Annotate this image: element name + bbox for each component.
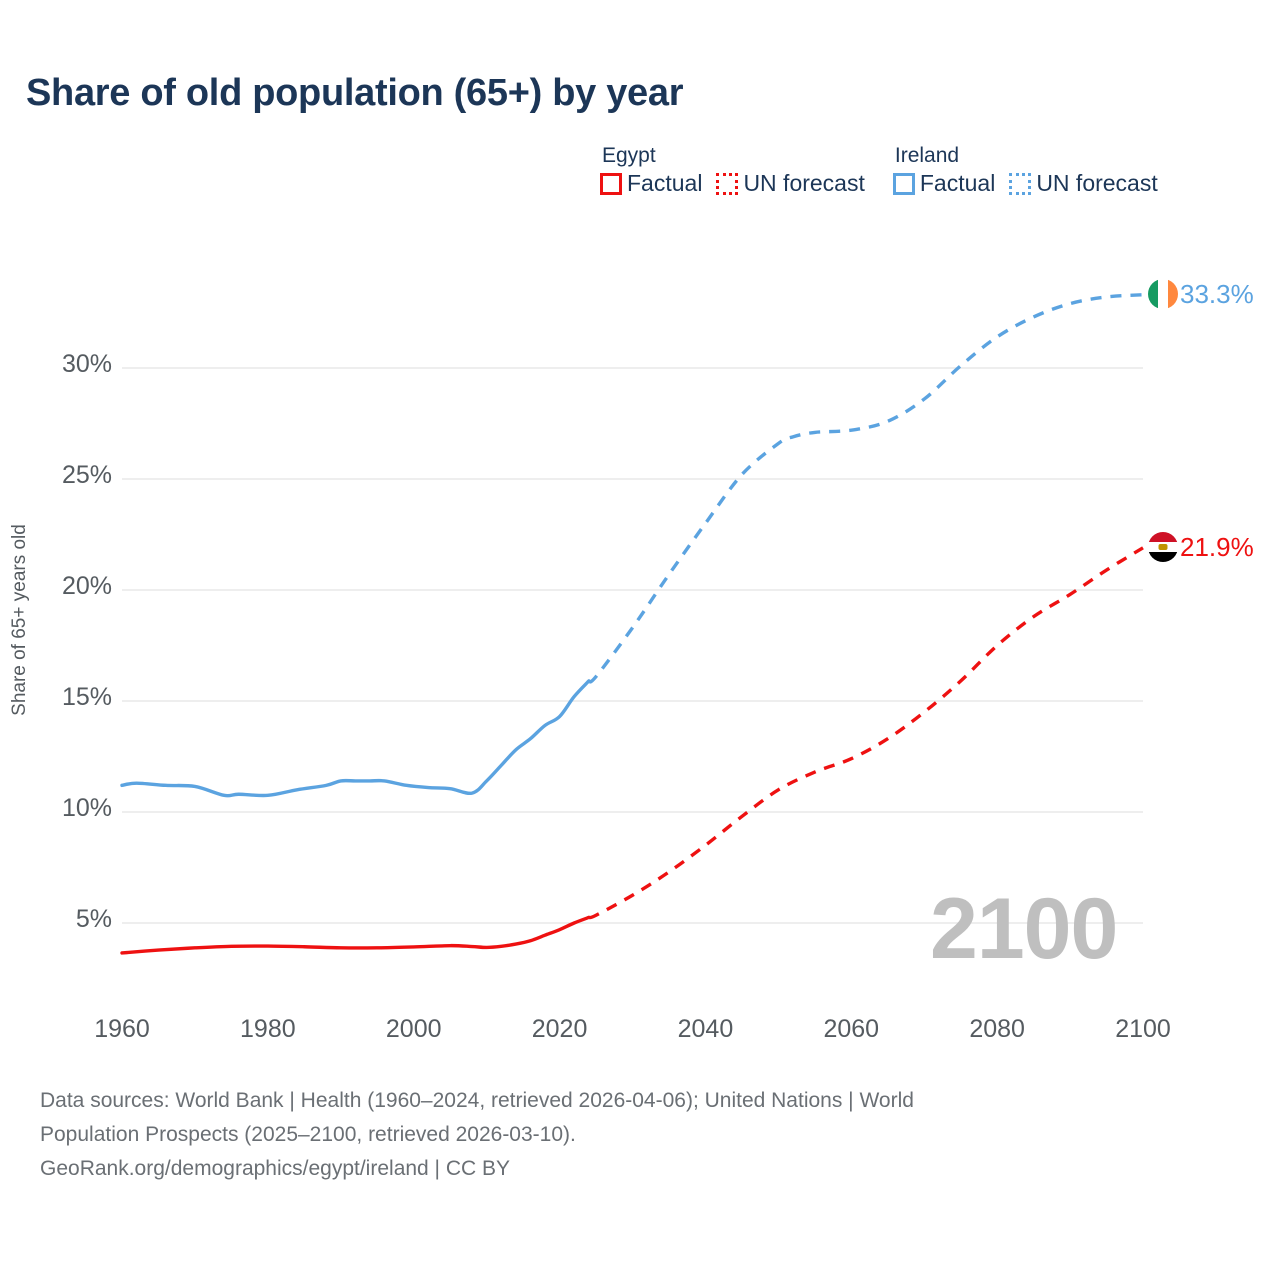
line-ireland-forecast: [589, 295, 1143, 682]
y-tick-label: 20%: [0, 572, 112, 601]
x-tick-label: 2080: [969, 1015, 1025, 1044]
ireland-flag-icon: [1148, 279, 1178, 309]
x-tick-label: 2100: [1115, 1015, 1171, 1044]
chart-plot-area: Share of 65+ years old 5%10%15%20%25%30%…: [0, 0, 1280, 1060]
footer-line-sources-1: Data sources: World Bank | Health (1960–…: [40, 1084, 1220, 1118]
x-tick-label: 1960: [94, 1015, 150, 1044]
y-tick-label: 25%: [0, 461, 112, 490]
endpoint-label-ireland: 33.3%: [1148, 279, 1254, 309]
x-tick-label: 1980: [240, 1015, 296, 1044]
x-tick-label: 2020: [532, 1015, 588, 1044]
x-tick-label: 2040: [678, 1015, 734, 1044]
y-tick-label: 30%: [0, 350, 112, 379]
line-egypt-forecast: [589, 548, 1143, 918]
endpoint-label-egypt: 21.9%: [1148, 532, 1254, 562]
chart-page: Share of old population (65+) by year Eg…: [0, 0, 1280, 1280]
y-tick-label: 10%: [0, 794, 112, 823]
y-tick-label: 5%: [0, 905, 112, 934]
x-tick-label: 2060: [823, 1015, 879, 1044]
endpoint-value-egypt: 21.9%: [1180, 534, 1254, 560]
footer-line-attribution[interactable]: GeoRank.org/demographics/egypt/ireland |…: [40, 1152, 1220, 1186]
x-tick-label: 2000: [386, 1015, 442, 1044]
footer-line-sources-2: Population Prospects (2025–2100, retriev…: [40, 1118, 1220, 1152]
year-watermark: 2100: [930, 886, 1117, 972]
endpoint-value-ireland: 33.3%: [1180, 281, 1254, 307]
line-ireland-factual: [122, 681, 589, 796]
chart-footer: Data sources: World Bank | Health (1960–…: [40, 1084, 1220, 1186]
egypt-flag-icon: [1148, 532, 1178, 562]
y-tick-label: 15%: [0, 683, 112, 712]
